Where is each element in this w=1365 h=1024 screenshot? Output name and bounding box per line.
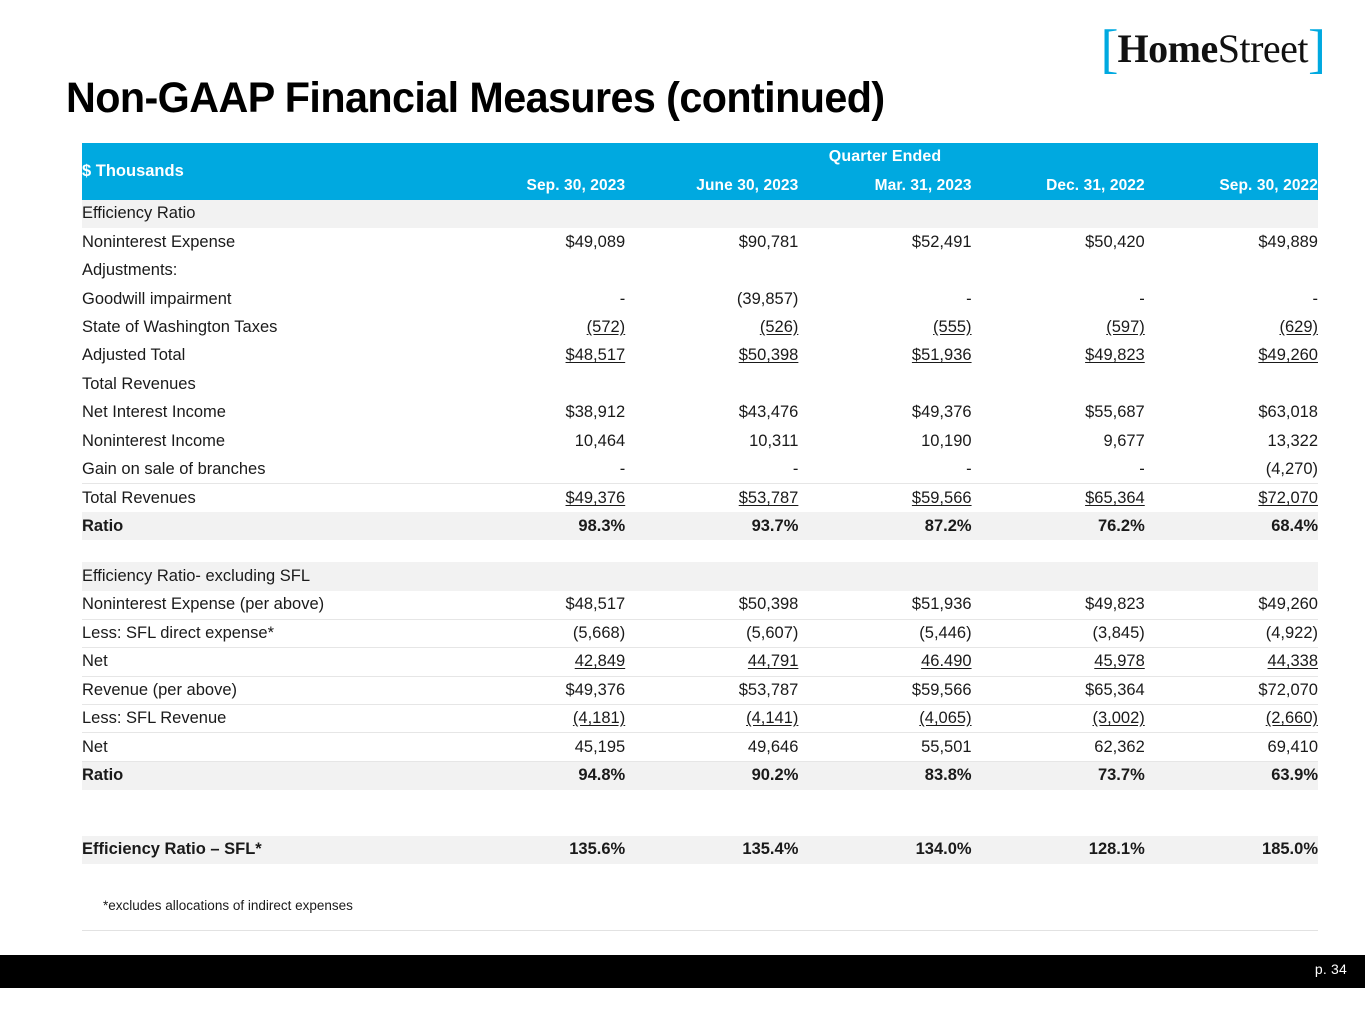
table-row: Noninterest Expense (per above)$48,517$5… [82, 591, 1318, 619]
row-value: $72,070 [1258, 489, 1318, 507]
row-value: (572) [587, 318, 626, 336]
row-value-cell: (3,845) [972, 619, 1145, 647]
row-value-cell: $55,687 [972, 399, 1145, 427]
row-value-cell: 45,195 [452, 733, 625, 761]
table-row: Ratio94.8%90.2%83.8%73.7%63.9% [82, 761, 1318, 789]
footer-bar [0, 955, 1365, 988]
row-value-cell: (4,270) [1145, 455, 1318, 483]
table-row: Gain on sale of branches----(4,270) [82, 455, 1318, 483]
table-row: Adjusted Total$48,517$50,398$51,936$49,8… [82, 342, 1318, 370]
row-value: (4,065) [919, 709, 971, 727]
row-label: Revenue (per above) [82, 676, 452, 704]
row-label: Adjustments: [82, 257, 452, 285]
row-value-cell: (4,141) [625, 704, 798, 732]
logo-bracket-close-icon: ] [1308, 26, 1325, 72]
row-label: Net [82, 733, 452, 761]
row-value: 42,849 [575, 652, 625, 670]
row-value-cell: - [798, 455, 971, 483]
row-value-cell: 10,311 [625, 427, 798, 455]
row-value-cell [1145, 200, 1318, 228]
table-header-row-group: $ Thousands Quarter Ended [82, 143, 1318, 171]
row-value: (526) [760, 318, 799, 336]
row-label: Net Interest Income [82, 399, 452, 427]
table-row: Less: SFL Revenue(4,181)(4,141)(4,065)(3… [82, 704, 1318, 732]
row-value-cell: 55,501 [798, 733, 971, 761]
row-value: (4,141) [746, 709, 798, 727]
table-row: Less: SFL direct expense*(5,668)(5,607)(… [82, 619, 1318, 647]
row-value-cell: 45,978 [972, 648, 1145, 676]
row-value-cell [625, 562, 798, 590]
row-value-cell: - [452, 455, 625, 483]
row-value: 46.490 [921, 652, 971, 670]
row-label: Net [82, 648, 452, 676]
row-value: $53,787 [739, 489, 799, 507]
row-value: $48,517 [566, 346, 626, 364]
table-row: Efficiency Ratio [82, 200, 1318, 228]
row-value-cell: 44,338 [1145, 648, 1318, 676]
row-value-cell: $51,936 [798, 591, 971, 619]
column-header-1: Sep. 30, 2023 [452, 171, 625, 199]
page-title: Non-GAAP Financial Measures (continued) [66, 74, 885, 123]
row-value-cell [798, 370, 971, 398]
row-label: Goodwill impairment [82, 285, 452, 313]
row-value-cell: $50,398 [625, 342, 798, 370]
row-value-cell: $49,823 [972, 591, 1145, 619]
row-label: Ratio [82, 512, 452, 540]
table-footnote: *excludes allocations of indirect expens… [103, 898, 353, 913]
row-value-cell: 10,190 [798, 427, 971, 455]
row-value-cell: (4,181) [452, 704, 625, 732]
row-value: 44,791 [748, 652, 798, 670]
row-value-cell: 128.1% [972, 836, 1145, 864]
row-value-cell: (5,668) [452, 619, 625, 647]
table-body-efficiency-ratio: Efficiency RatioNoninterest Expense$49,0… [82, 200, 1318, 541]
row-value-cell: (572) [452, 313, 625, 341]
row-value-cell [625, 257, 798, 285]
table-row: Net42,84944,79146.49045,97844,338 [82, 648, 1318, 676]
row-label: Noninterest Expense [82, 228, 452, 256]
row-value-cell [1145, 370, 1318, 398]
row-value-cell: (4,065) [798, 704, 971, 732]
row-value-cell: - [1145, 285, 1318, 313]
row-value-cell [798, 200, 971, 228]
row-label: Ratio [82, 761, 452, 789]
row-value-cell: (3,002) [972, 704, 1145, 732]
row-value-cell: 42,849 [452, 648, 625, 676]
row-label: Noninterest Expense (per above) [82, 591, 452, 619]
row-value-cell: (526) [625, 313, 798, 341]
row-value: (629) [1279, 318, 1318, 336]
row-value-cell [798, 562, 971, 590]
row-value-cell [972, 200, 1145, 228]
table-row: Noninterest Income10,46410,31110,1909,67… [82, 427, 1318, 455]
row-value-cell: $59,566 [798, 676, 971, 704]
row-value-cell: $52,491 [798, 228, 971, 256]
row-value-cell: 185.0% [1145, 836, 1318, 864]
slide-canvas: [ Home Street ] Non-GAAP Financial Measu… [0, 0, 1365, 1024]
homestreet-logo: [ Home Street ] [1101, 26, 1325, 72]
row-value-cell: 49,646 [625, 733, 798, 761]
row-value-cell: $49,376 [798, 399, 971, 427]
row-value: (4,181) [573, 709, 625, 727]
row-value-cell: $53,787 [625, 676, 798, 704]
row-value-cell: (555) [798, 313, 971, 341]
row-value: $50,398 [739, 346, 799, 364]
row-value-cell: $50,398 [625, 591, 798, 619]
row-value-cell: $48,517 [452, 591, 625, 619]
row-value-cell: $51,936 [798, 342, 971, 370]
row-value-cell: 44,791 [625, 648, 798, 676]
row-value-cell [452, 257, 625, 285]
page-number: p. 34 [1315, 961, 1347, 977]
row-value: (2,660) [1266, 709, 1318, 727]
row-value-cell: 90.2% [625, 761, 798, 789]
row-value-cell: (5,607) [625, 619, 798, 647]
row-label: Gain on sale of branches [82, 455, 452, 483]
table-bottom-rule [82, 930, 1318, 931]
column-header-5: Sep. 30, 2022 [1145, 171, 1318, 199]
row-value: $49,823 [1085, 346, 1145, 364]
row-value: $49,260 [1258, 346, 1318, 364]
row-value-cell [625, 200, 798, 228]
row-label: State of Washington Taxes [82, 313, 452, 341]
table-row: Adjustments: [82, 257, 1318, 285]
row-value-cell: 10,464 [452, 427, 625, 455]
row-value-cell: 13,322 [1145, 427, 1318, 455]
row-value-cell: $49,889 [1145, 228, 1318, 256]
row-value-cell [1145, 562, 1318, 590]
row-value-cell: $49,260 [1145, 342, 1318, 370]
row-value-cell: $65,364 [972, 484, 1145, 512]
row-value-cell: 135.6% [452, 836, 625, 864]
column-header-4: Dec. 31, 2022 [972, 171, 1145, 199]
row-label: Efficiency Ratio [82, 200, 452, 228]
table-row: Net45,19549,64655,50162,36269,410 [82, 733, 1318, 761]
table-row: Efficiency Ratio- excluding SFL [82, 562, 1318, 590]
row-value-cell: $72,070 [1145, 484, 1318, 512]
row-value-cell: 68.4% [1145, 512, 1318, 540]
row-value-cell: 46.490 [798, 648, 971, 676]
row-value-cell [798, 257, 971, 285]
row-value: $65,364 [1085, 489, 1145, 507]
row-label: Noninterest Income [82, 427, 452, 455]
row-value-cell [452, 200, 625, 228]
row-value-cell: $65,364 [972, 676, 1145, 704]
row-value-cell: 69,410 [1145, 733, 1318, 761]
row-label: Efficiency Ratio – SFL* [82, 836, 452, 864]
row-value-cell: $90,781 [625, 228, 798, 256]
table-row: Revenue (per above)$49,376$53,787$59,566… [82, 676, 1318, 704]
row-value: (555) [933, 318, 972, 336]
row-value-cell [625, 370, 798, 398]
row-value-cell: 93.7% [625, 512, 798, 540]
table-body-efficiency-ratio-excl-sfl: Efficiency Ratio- excluding SFLNonintere… [82, 562, 1318, 789]
table-gap-2 [82, 790, 1318, 836]
row-value-cell: 76.2% [972, 512, 1145, 540]
table-row: Net Interest Income$38,912$43,476$49,376… [82, 399, 1318, 427]
row-value-cell: (4,922) [1145, 619, 1318, 647]
row-value-cell: (597) [972, 313, 1145, 341]
row-value-cell [972, 562, 1145, 590]
row-value-cell: - [972, 455, 1145, 483]
row-value-cell: (2,660) [1145, 704, 1318, 732]
unit-label: $ Thousands [82, 143, 452, 200]
table-body-efficiency-ratio-sfl: Efficiency Ratio – SFL*135.6%135.4%134.0… [82, 836, 1318, 864]
row-value-cell: $50,420 [972, 228, 1145, 256]
row-value-cell: $49,089 [452, 228, 625, 256]
logo-word-home: Home [1118, 29, 1218, 69]
row-value: 44,338 [1268, 652, 1318, 670]
row-label: Total Revenues [82, 370, 452, 398]
row-value-cell [1145, 257, 1318, 285]
row-value-cell: (629) [1145, 313, 1318, 341]
row-value-cell: $53,787 [625, 484, 798, 512]
column-header-2: June 30, 2023 [625, 171, 798, 199]
row-value-cell: $59,566 [798, 484, 971, 512]
row-value: $59,566 [912, 489, 972, 507]
row-value-cell: $49,823 [972, 342, 1145, 370]
table-row: Ratio98.3%93.7%87.2%76.2%68.4% [82, 512, 1318, 540]
row-value-cell: $49,376 [452, 484, 625, 512]
row-value-cell: (39,857) [625, 285, 798, 313]
table-row: Efficiency Ratio – SFL*135.6%135.4%134.0… [82, 836, 1318, 864]
table-row: Total Revenues [82, 370, 1318, 398]
row-value-cell: - [625, 455, 798, 483]
table-row: Total Revenues$49,376$53,787$59,566$65,3… [82, 484, 1318, 512]
row-value-cell: - [452, 285, 625, 313]
row-label: Less: SFL Revenue [82, 704, 452, 732]
table-row: Noninterest Expense$49,089$90,781$52,491… [82, 228, 1318, 256]
row-value: $49,376 [566, 489, 626, 507]
row-value-cell: 9,677 [972, 427, 1145, 455]
row-value-cell: $43,476 [625, 399, 798, 427]
row-value-cell: $49,376 [452, 676, 625, 704]
row-value-cell: 94.8% [452, 761, 625, 789]
row-value-cell: 73.7% [972, 761, 1145, 789]
row-value-cell [972, 257, 1145, 285]
row-value-cell: 135.4% [625, 836, 798, 864]
row-value-cell [452, 370, 625, 398]
row-value: (597) [1106, 318, 1145, 336]
row-value-cell: 62,362 [972, 733, 1145, 761]
row-value-cell [972, 370, 1145, 398]
row-value-cell: $72,070 [1145, 676, 1318, 704]
row-label: Total Revenues [82, 484, 452, 512]
quarter-ended-label: Quarter Ended [452, 143, 1318, 171]
row-value: (3,002) [1092, 709, 1144, 727]
non-gaap-table-container: $ Thousands Quarter Ended Sep. 30, 2023 … [82, 143, 1318, 864]
column-header-3: Mar. 31, 2023 [798, 171, 971, 199]
table-header: $ Thousands Quarter Ended Sep. 30, 2023 … [82, 143, 1318, 200]
row-value-cell: $38,912 [452, 399, 625, 427]
row-value-cell: 98.3% [452, 512, 625, 540]
table-row: Goodwill impairment-(39,857)--- [82, 285, 1318, 313]
row-value-cell: $49,260 [1145, 591, 1318, 619]
row-label: Efficiency Ratio- excluding SFL [82, 562, 452, 590]
row-value-cell: $48,517 [452, 342, 625, 370]
table-gap-1 [82, 540, 1318, 562]
row-value-cell: (5,446) [798, 619, 971, 647]
row-value-cell: $63,018 [1145, 399, 1318, 427]
row-value-cell: 87.2% [798, 512, 971, 540]
row-value-cell: 63.9% [1145, 761, 1318, 789]
row-value: $51,936 [912, 346, 972, 364]
row-label: Adjusted Total [82, 342, 452, 370]
row-value-cell [452, 562, 625, 590]
logo-bracket-open-icon: [ [1101, 26, 1118, 72]
row-value-cell: - [972, 285, 1145, 313]
non-gaap-table: $ Thousands Quarter Ended Sep. 30, 2023 … [82, 143, 1318, 864]
row-value-cell: 134.0% [798, 836, 971, 864]
logo-word-street: Street [1218, 29, 1308, 69]
row-value: 45,978 [1094, 652, 1144, 670]
row-label: Less: SFL direct expense* [82, 619, 452, 647]
row-value-cell: 83.8% [798, 761, 971, 789]
row-value-cell: - [798, 285, 971, 313]
table-row: State of Washington Taxes(572)(526)(555)… [82, 313, 1318, 341]
